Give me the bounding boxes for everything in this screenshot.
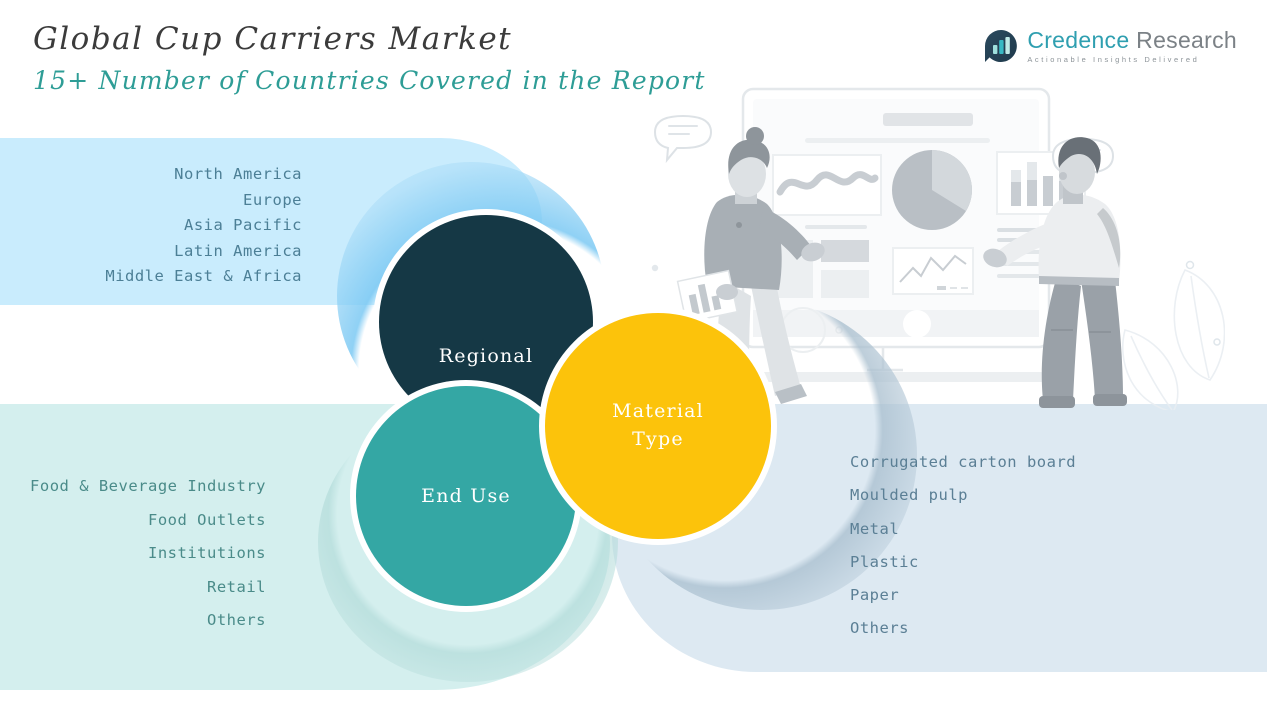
page-title: Global Cup Carriers Market [33,21,512,57]
list-item: Retail [0,571,266,605]
list-item: Latin America [0,239,302,265]
material-type-list: Corrugated carton board Moulded pulp Met… [850,446,1210,646]
list-item: Asia Pacific [0,213,302,239]
infographic-canvas: Global Cup Carriers Market 15+ Number of… [0,0,1267,713]
list-item: Institutions [0,537,266,571]
list-item: North America [0,162,302,188]
page-subtitle: 15+ Number of Countries Covered in the R… [33,66,706,95]
segment-circle-material-type-label: MaterialType [612,398,704,453]
end-use-list: Food & Beverage Industry Food Outlets In… [0,470,266,638]
list-item: Plastic [850,546,1210,579]
segment-circle-end-use[interactable]: End Use [356,386,576,606]
segment-circle-material-type[interactable]: MaterialType [545,313,771,539]
list-item: Food & Beverage Industry [0,470,266,504]
material-label-line1: Material [612,400,704,422]
list-item: Metal [850,513,1210,546]
logo-name-primary: Credence [1027,27,1129,53]
logo-name: Credence Research [1027,29,1237,52]
segment-circle-end-use-label: End Use [421,485,511,507]
list-item: Others [850,612,1210,645]
bar-chart-circle-icon [983,28,1019,64]
logo-tagline: Actionable Insights Delivered [1027,56,1237,64]
list-item: Food Outlets [0,504,266,538]
regional-list: North America Europe Asia Pacific Latin … [0,162,302,290]
segment-circle-regional-label: Regional [439,345,533,367]
logo-wordmark: Credence Research Actionable Insights De… [1027,29,1237,64]
list-item: Moulded pulp [850,479,1210,512]
list-item: Middle East & Africa [0,264,302,290]
list-item: Corrugated carton board [850,446,1210,479]
list-item: Others [0,604,266,638]
credence-research-logo: Credence Research Actionable Insights De… [983,28,1237,64]
material-label-line2: Type [632,428,684,450]
list-item: Paper [850,579,1210,612]
logo-name-secondary: Research [1136,27,1237,53]
list-item: Europe [0,188,302,214]
